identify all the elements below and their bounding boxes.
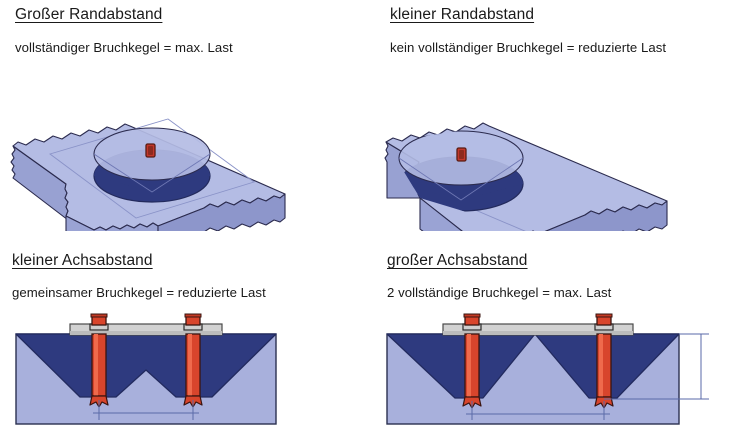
anchor-bolt-left — [463, 314, 481, 408]
slab-full-cone-svg — [8, 66, 293, 231]
figure-large-edge-distance — [8, 66, 293, 231]
panel-small-spacing: kleiner Achsabstand gemeinsamer Bruchkeg… — [0, 240, 375, 438]
panel-large-edge-distance: Großer Randabstand vollständiger Bruchke… — [0, 0, 375, 240]
section-separate-cones-svg — [379, 312, 749, 432]
anchor-bolt-right — [184, 314, 202, 407]
heading-large-edge-distance: Großer Randabstand — [15, 6, 162, 24]
caption-small-spacing: gemeinsamer Bruchkegel = reduzierte Last — [12, 285, 266, 300]
section-overlapping-cones-svg — [8, 312, 298, 432]
caption-small-edge-distance: kein vollständiger Bruchkegel = reduzier… — [390, 40, 666, 55]
figure-large-spacing — [379, 312, 749, 432]
slab-truncated-cone-svg — [379, 66, 679, 231]
heading-small-spacing: kleiner Achsabstand — [12, 252, 153, 270]
anchor-bolt-left — [90, 314, 108, 407]
anchor-head-icon — [146, 144, 155, 157]
panel-large-spacing: großer Achsabstand 2 vollständige Bruchk… — [375, 240, 750, 438]
figure-small-edge-distance — [379, 66, 679, 231]
panel-small-edge-distance: kleiner Randabstand kein vollständiger B… — [375, 0, 750, 240]
anchor-head-icon — [457, 148, 466, 161]
figure-small-spacing — [8, 312, 298, 432]
heading-large-spacing: großer Achsabstand — [387, 252, 528, 270]
anchor-bolt-right — [595, 314, 613, 408]
caption-large-spacing: 2 vollständige Bruchkegel = max. Last — [387, 285, 611, 300]
heading-small-edge-distance: kleiner Randabstand — [390, 6, 534, 24]
caption-large-edge-distance: vollständiger Bruchkegel = max. Last — [15, 40, 233, 55]
